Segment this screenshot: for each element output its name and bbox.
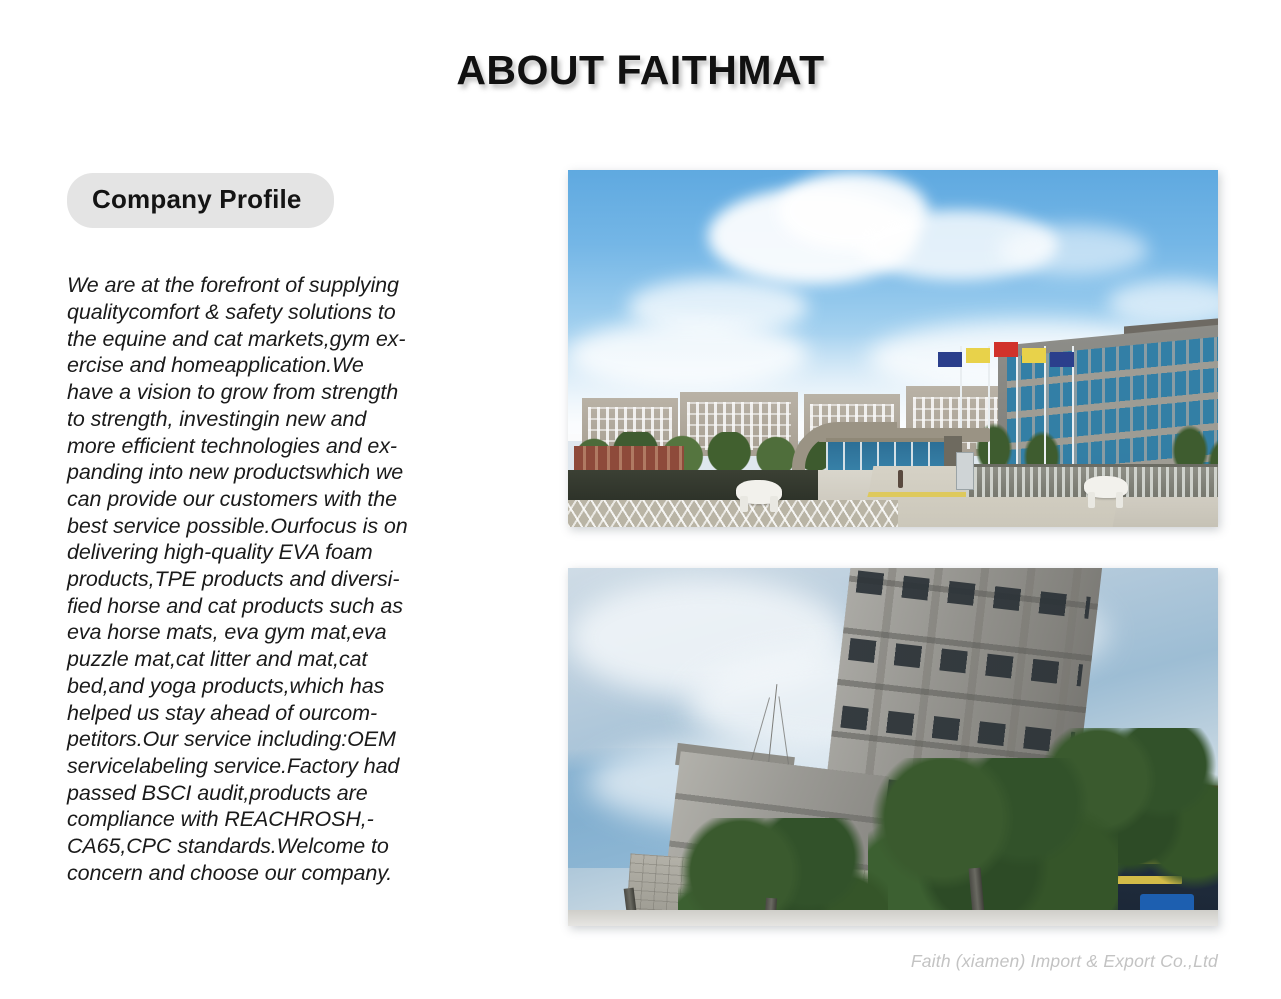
- horse-statue-leg: [1116, 492, 1123, 508]
- company-profile-body: We are at the forefront of supplying qua…: [67, 272, 487, 886]
- guard-booth: [956, 452, 974, 490]
- flag-blue: [938, 352, 962, 367]
- ground-pavement: [568, 910, 1218, 926]
- flagpole: [1044, 346, 1046, 472]
- flagpole: [1016, 346, 1018, 472]
- company-credit-line: Faith (xiamen) Import & Export Co.,Ltd: [911, 951, 1218, 972]
- office-facade-scene: [568, 568, 1218, 926]
- flagpole: [988, 346, 990, 472]
- campus-gate-photo: [568, 170, 1218, 527]
- company-profile-section: Company Profile We are at the forefront …: [67, 173, 497, 886]
- campus-gate-scene: [568, 170, 1218, 527]
- horse-statue-leg: [740, 496, 748, 512]
- page-title: ABOUT FAITHMAT: [0, 47, 1281, 94]
- paved-forecourt: [568, 500, 898, 527]
- office-facade-photo: [568, 568, 1218, 926]
- cloud-shape: [998, 225, 1148, 275]
- flag-blue: [1050, 352, 1074, 367]
- horse-statue-leg: [1088, 492, 1095, 508]
- company-profile-heading: Company Profile: [67, 173, 334, 228]
- horse-statue-leg: [770, 496, 778, 512]
- foreground-tree: [868, 758, 1118, 926]
- flag-red: [994, 342, 1018, 357]
- flag-yellow: [966, 348, 990, 363]
- pedestrian: [898, 470, 903, 488]
- flag-yellow: [1022, 348, 1046, 363]
